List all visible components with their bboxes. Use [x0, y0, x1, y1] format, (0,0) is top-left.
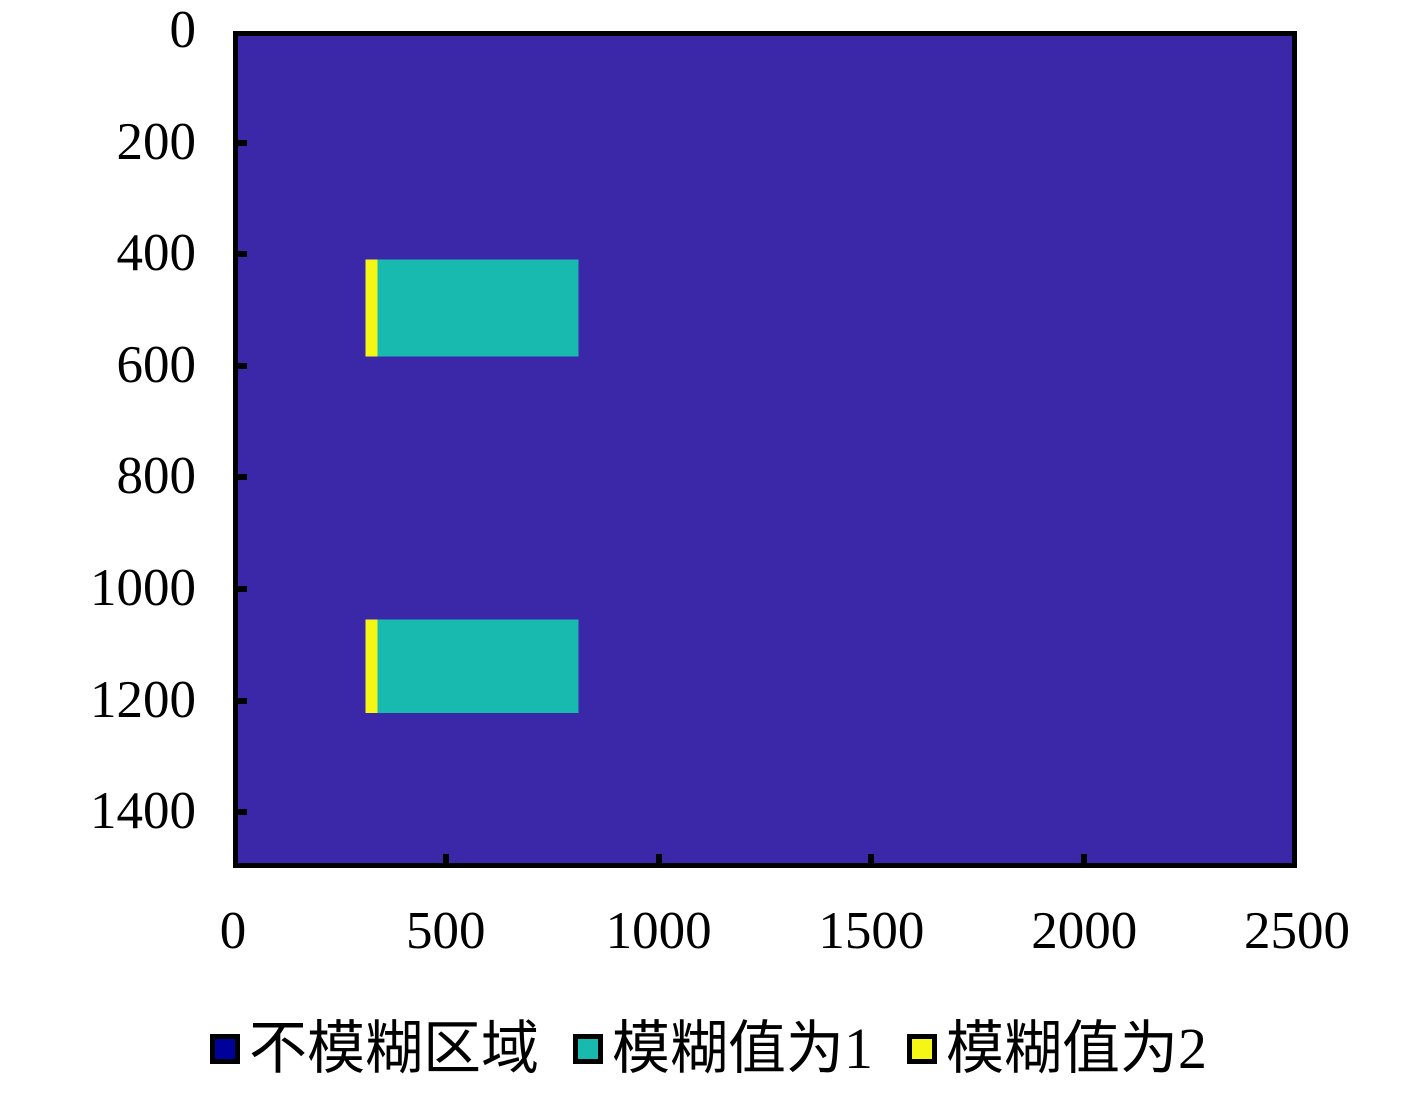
x-tick-label-500: 500: [406, 905, 486, 958]
y-tick-label-400: 400: [117, 227, 197, 280]
x-tick-2000: [1081, 854, 1087, 868]
x-tick-label-0: 0: [220, 905, 247, 958]
y-tick-600: [233, 363, 247, 369]
legend-entry-value-2: 模糊值为2: [907, 1020, 1207, 1078]
plot-area: [233, 31, 1297, 868]
y-tick-label-1400: 1400: [90, 785, 196, 838]
y-tick-800: [233, 474, 247, 480]
x-tick-label-2500: 2500: [1244, 905, 1350, 958]
y-tick-label-800: 800: [117, 450, 197, 503]
legend-swatch-value-0: [210, 1034, 240, 1064]
y-tick-1200: [233, 698, 247, 704]
legend-entry-value-0: 不模糊区域: [210, 1020, 539, 1078]
lower-blur-block: [378, 619, 579, 713]
y-tick-1000: [233, 586, 247, 592]
x-tick-1500: [868, 854, 874, 868]
x-tick-1000: [656, 854, 662, 868]
legend: 不模糊区域模糊值为1模糊值为2: [0, 1010, 1417, 1088]
lower-blur-edge: [366, 619, 378, 713]
legend-label-value-1: 模糊值为1: [612, 1020, 873, 1078]
x-tick-500: [443, 854, 449, 868]
y-axis-tick-labels: 0200400600800100012001400: [0, 0, 196, 900]
heatmap-canvas: [238, 36, 1292, 863]
x-axis-tick-labels: 05001000150020002500: [0, 905, 1417, 975]
y-tick-1400: [233, 809, 247, 815]
upper-blur-block: [378, 259, 579, 356]
x-tick-label-1000: 1000: [606, 905, 712, 958]
legend-label-value-0: 不模糊区域: [249, 1020, 539, 1078]
blur-region-heatmap-figure: 0200400600800100012001400 05001000150020…: [0, 0, 1417, 1095]
x-tick-label-2000: 2000: [1031, 905, 1137, 958]
y-tick-label-200: 200: [117, 116, 197, 169]
legend-entry-value-1: 模糊值为1: [573, 1020, 873, 1078]
y-tick-400: [233, 251, 247, 257]
y-tick-label-1200: 1200: [90, 674, 196, 727]
x-tick-label-1500: 1500: [818, 905, 924, 958]
upper-blur-edge: [366, 259, 378, 356]
y-tick-200: [233, 140, 247, 146]
legend-swatch-value-1: [573, 1034, 603, 1064]
y-tick-label-0: 0: [170, 4, 197, 57]
legend-label-value-2: 模糊值为2: [946, 1020, 1207, 1078]
legend-swatch-value-2: [907, 1034, 937, 1064]
y-tick-label-1000: 1000: [90, 562, 196, 615]
y-tick-label-600: 600: [117, 339, 197, 392]
